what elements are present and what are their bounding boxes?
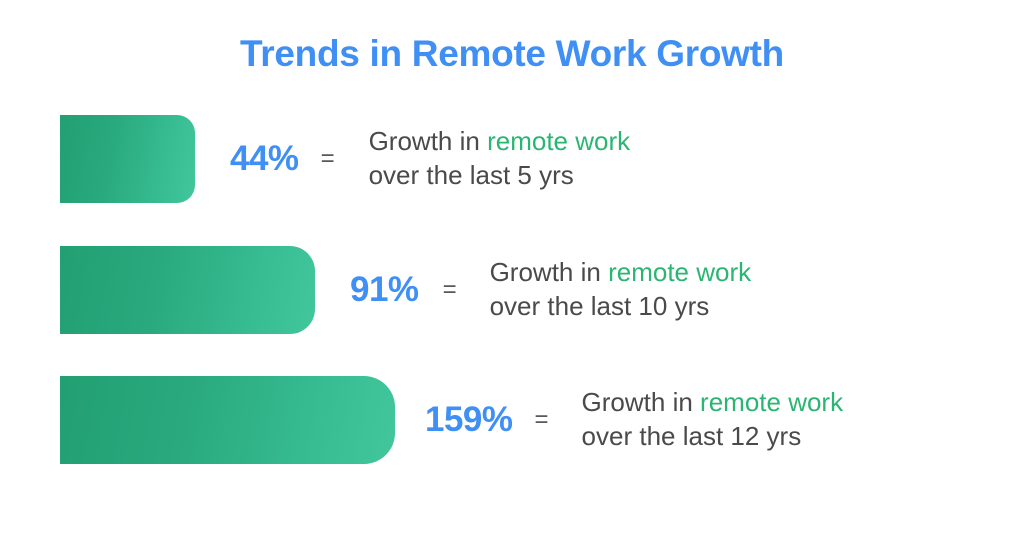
page-title: Trends in Remote Work Growth <box>0 33 1024 75</box>
caption-line-2: over the last 10 yrs <box>490 290 752 324</box>
caption-line-1: Growth in remote work <box>582 386 844 420</box>
equals-sign: = <box>535 406 549 434</box>
percent-label: 91% <box>350 270 419 310</box>
caption-lead: Growth in <box>369 126 488 156</box>
equals-sign: = <box>443 276 457 304</box>
equals-sign: = <box>321 145 335 173</box>
stat-row: 159% = Growth in remote work over the la… <box>0 374 1024 466</box>
growth-bar <box>60 115 195 203</box>
caption-line-2: over the last 12 yrs <box>582 420 844 454</box>
caption-accent: remote work <box>487 126 630 156</box>
stat-row: 44% = Growth in remote work over the las… <box>0 113 1024 205</box>
caption-lead: Growth in <box>582 387 701 417</box>
percent-label: 44% <box>230 139 299 179</box>
caption-accent: remote work <box>608 257 751 287</box>
caption-line-2: over the last 5 yrs <box>369 159 631 193</box>
growth-bar <box>60 376 395 464</box>
caption-line-1: Growth in remote work <box>369 125 631 159</box>
bar-wrapper <box>60 376 395 464</box>
bar-wrapper <box>60 115 195 203</box>
percent-label: 159% <box>425 400 513 440</box>
infographic-canvas: Trends in Remote Work Growth 44% = Growt… <box>0 0 1024 535</box>
growth-bar <box>60 246 315 334</box>
caption-text: Growth in remote work over the last 10 y… <box>490 256 752 324</box>
caption-text: Growth in remote work over the last 5 yr… <box>369 125 631 193</box>
caption-text: Growth in remote work over the last 12 y… <box>582 386 844 454</box>
caption-accent: remote work <box>700 387 843 417</box>
stat-row: 91% = Growth in remote work over the las… <box>0 244 1024 336</box>
bar-wrapper <box>60 246 315 334</box>
caption-line-1: Growth in remote work <box>490 256 752 290</box>
caption-lead: Growth in <box>490 257 609 287</box>
